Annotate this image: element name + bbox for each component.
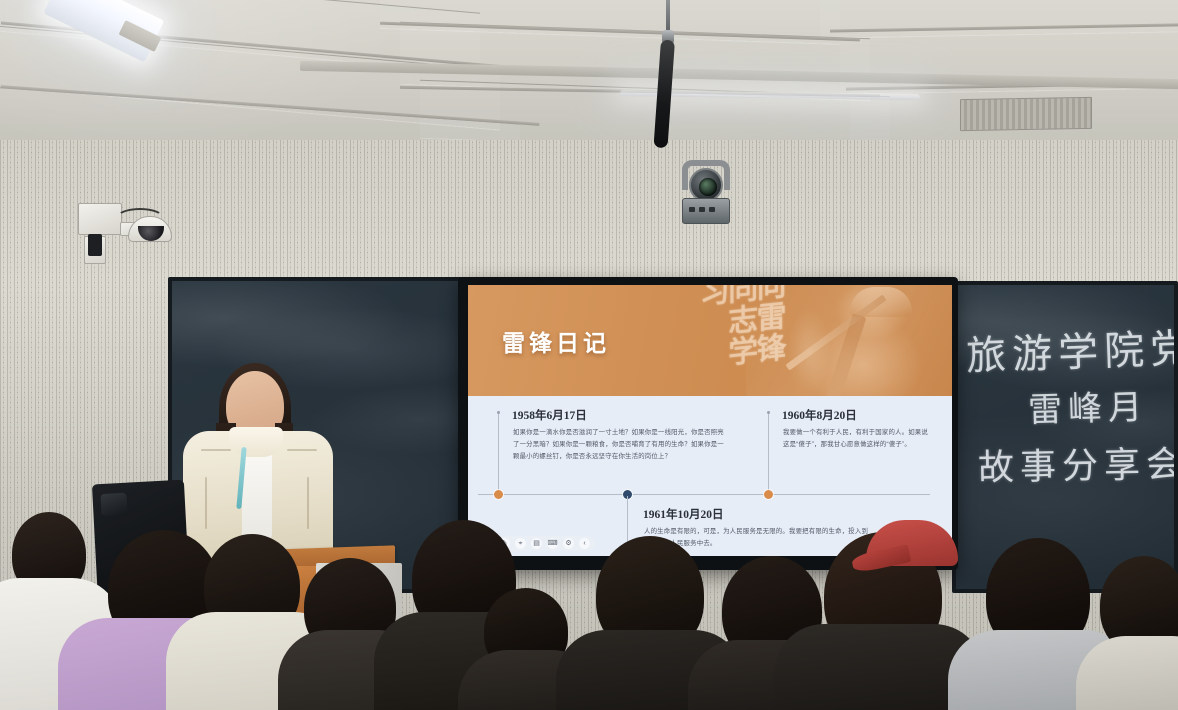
- audience-member-11: [1086, 556, 1178, 710]
- presenter-collar: [229, 427, 283, 457]
- timeline-date-3: 1961年10月20日: [643, 506, 724, 522]
- timeline-text-2: 我要做一个有利于人民，有利于国家的人。如果说这是“傻子”，那我甘心愿意做这样的“…: [783, 427, 931, 451]
- chalk-line-2: 雷峰月: [1027, 379, 1148, 431]
- red-cap: [866, 520, 958, 566]
- timeline-date-1: 1958年6月17日: [512, 407, 587, 423]
- timeline-date-2: 1960年8月20日: [782, 407, 857, 423]
- power-adapter: [88, 234, 102, 256]
- camera-cable: [116, 208, 164, 228]
- timeline-dot-1: [494, 490, 503, 499]
- chalk-line-1: 旅游学院党风: [965, 314, 1178, 382]
- classroom-scene: 旅游学院党风 雷峰月 故事分享会 向雷锋同志学习 雷锋日记: [0, 0, 1178, 710]
- timeline-text-1: 如果你是一滴水你是否滋润了一寸土地？如果你是一线阳光，你是否照亮了一分黑暗？如果…: [513, 427, 728, 463]
- presenter-shirt: [242, 443, 272, 539]
- presentation-slide[interactable]: 向雷锋同志学习 雷锋日记 1958年6月17日 如果你是一滴水你是否滋润了一寸土…: [468, 285, 952, 556]
- timeline-axis: [478, 494, 930, 495]
- ceiling-air-vent: [960, 97, 1092, 131]
- comment-icon[interactable]: ⌨: [547, 538, 558, 549]
- audience-member-9: [790, 520, 970, 710]
- calligraphy-inscription: 向雷锋同志学习: [593, 285, 782, 396]
- slide-header: 向雷锋同志学习 雷锋日记: [468, 285, 952, 396]
- chalk-line-3: 故事分享会: [978, 435, 1178, 491]
- ceiling: [0, 0, 1178, 152]
- hanging-microphone: [657, 0, 679, 148]
- timeline-dot-2: [764, 490, 773, 499]
- camera-lens-icon: [100, 493, 127, 516]
- ptz-camera: [678, 160, 734, 226]
- slide-title: 雷锋日记: [502, 324, 610, 358]
